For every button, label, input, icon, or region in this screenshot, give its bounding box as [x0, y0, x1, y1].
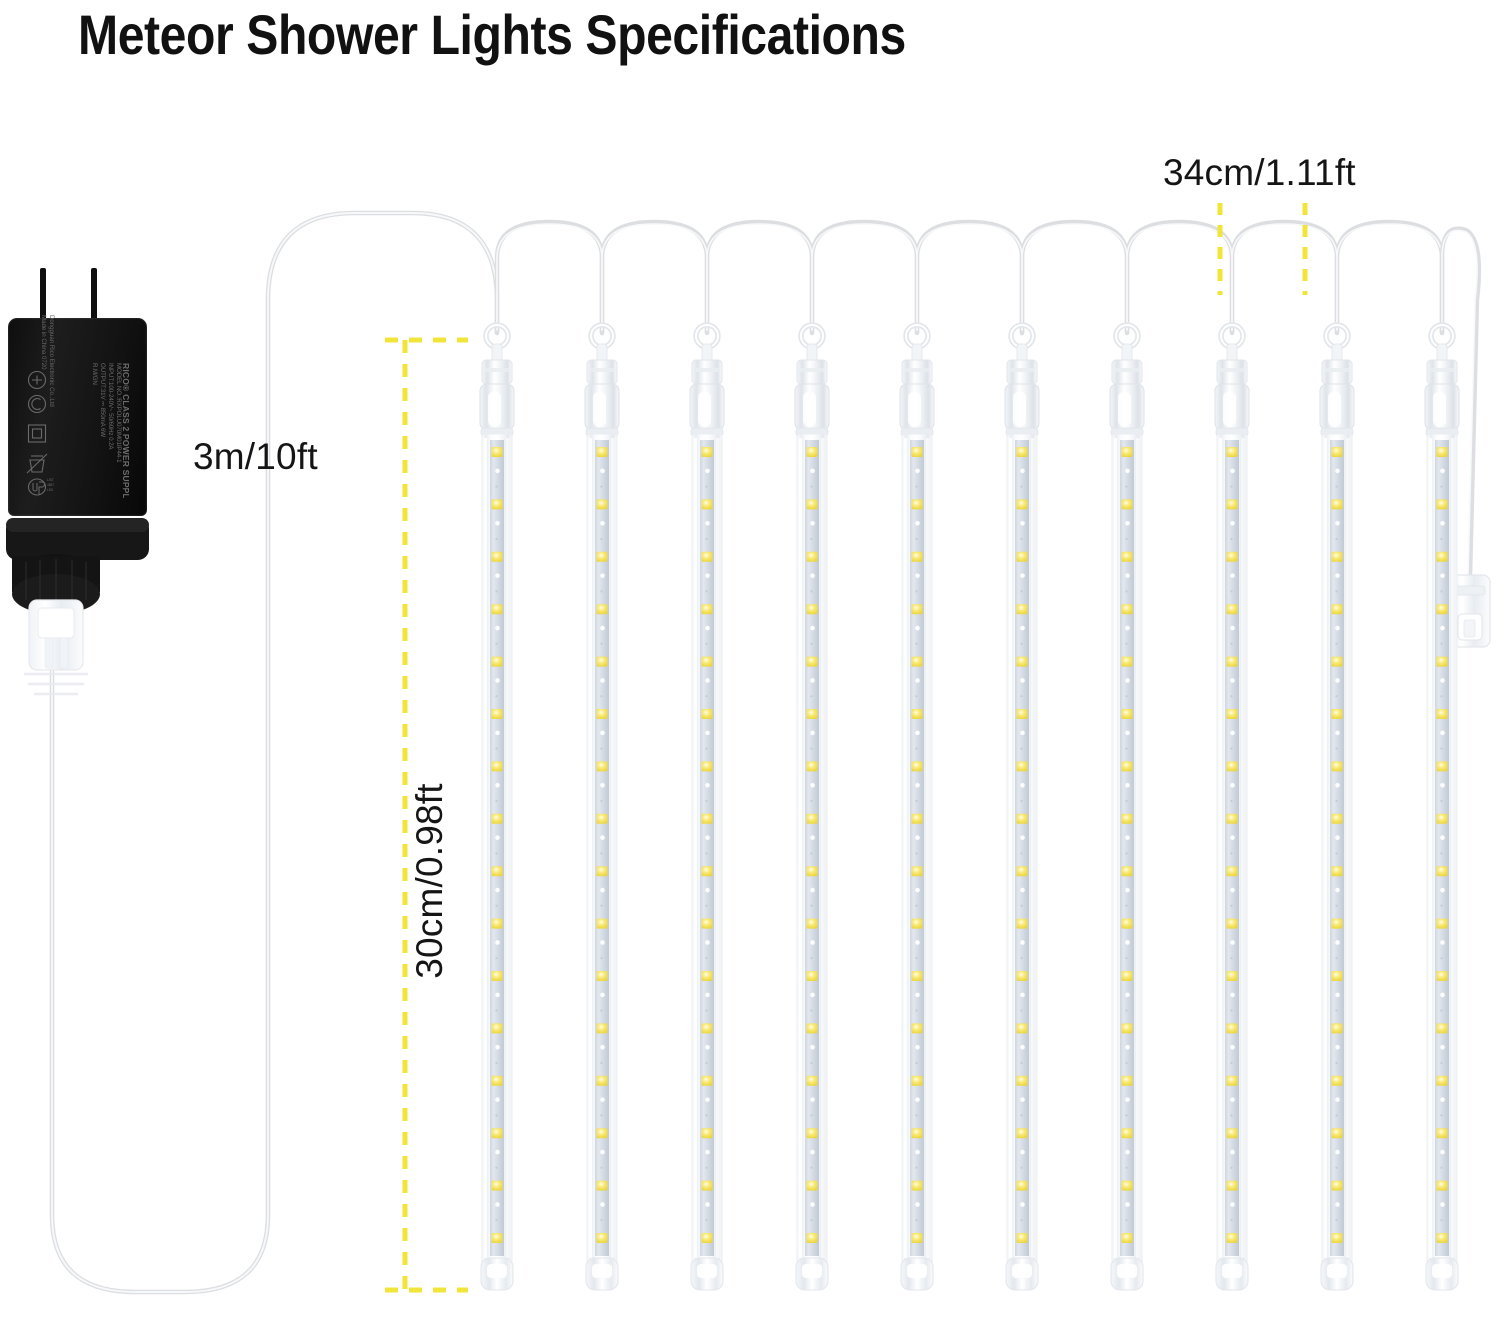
led-strip-dot	[495, 1202, 500, 1207]
led-strip-dot	[1125, 835, 1130, 840]
led-chip	[807, 657, 818, 667]
tube-foot-cap	[1111, 1258, 1143, 1290]
led-strip-resistor	[1230, 905, 1232, 907]
led-chip	[807, 814, 818, 824]
led-strip-dot	[1020, 1202, 1025, 1207]
led-strip-dot	[1125, 940, 1130, 945]
led-strip-dot	[600, 1202, 605, 1207]
led-strip-resistor	[1020, 1062, 1022, 1064]
led-strip-dot	[1335, 731, 1340, 736]
led-strip-resistor	[1020, 695, 1022, 697]
led-strip-dot	[810, 1045, 815, 1050]
led-strip-resistor	[1125, 1114, 1127, 1116]
led-chip	[597, 1233, 608, 1243]
tube-cap	[1110, 360, 1144, 436]
led-chip	[597, 552, 608, 562]
led-strip-resistor	[1230, 747, 1232, 749]
led-chip	[1017, 447, 1028, 457]
led-strip-dot	[1335, 678, 1340, 683]
led-strip-dot	[495, 573, 500, 578]
led-strip-resistor	[1230, 957, 1232, 959]
led-strip-resistor	[1125, 590, 1127, 592]
led-strip-dot	[1335, 626, 1340, 631]
led-chip	[1122, 919, 1133, 929]
led-strip-dot	[705, 835, 710, 840]
led-strip-resistor	[915, 1219, 917, 1221]
led-tube	[1425, 325, 1459, 1290]
led-chip	[807, 709, 818, 719]
led-strip-dot	[600, 1045, 605, 1050]
led-strip-dot	[1230, 1150, 1235, 1155]
led-strip-dot	[600, 993, 605, 998]
adapter-output-line: OUTPUT:31V ⎓ 850mA 6W	[98, 363, 106, 498]
led-strip-dot	[1335, 993, 1340, 998]
led-strip-resistor	[705, 1114, 707, 1116]
led-strip-resistor	[705, 1062, 707, 1064]
tube-cap	[900, 360, 934, 436]
led-strip-dot	[1230, 573, 1235, 578]
led-strip-resistor	[1020, 1009, 1022, 1011]
led-strip-resistor	[1335, 800, 1337, 802]
tube-cap	[480, 360, 514, 436]
led-chip	[492, 1076, 503, 1086]
led-chip	[1437, 1128, 1448, 1138]
led-strip-resistor	[495, 747, 497, 749]
led-strip-dot	[600, 783, 605, 788]
led-chip	[597, 761, 608, 771]
led-strip-dot	[810, 573, 815, 578]
led-chip	[702, 447, 713, 457]
led-tube	[795, 325, 829, 1290]
led-strip-resistor	[1335, 905, 1337, 907]
product-illustration	[0, 0, 1500, 1319]
led-strip-resistor	[1125, 747, 1127, 749]
led-strip-resistor	[1440, 590, 1442, 592]
led-strip-resistor	[810, 957, 812, 959]
led-strip-dot	[600, 1150, 605, 1155]
led-strip-resistor	[600, 1114, 602, 1116]
led-chip	[492, 971, 503, 981]
led-chip	[597, 604, 608, 614]
led-strip-dot	[810, 888, 815, 893]
led-strip-resistor	[1020, 905, 1022, 907]
led-strip-dot	[1020, 678, 1025, 683]
led-strip-resistor	[1125, 1062, 1127, 1064]
led-chip	[1017, 1076, 1028, 1086]
adapter-brand-line: RICO® CLASS 2 POWER SUPPLY	[122, 363, 130, 498]
led-chip	[1332, 447, 1343, 457]
tube-cap	[1320, 360, 1354, 436]
led-strip-dot	[1125, 1150, 1130, 1155]
led-chip	[1017, 709, 1028, 719]
led-chip	[492, 1181, 503, 1191]
led-chip	[492, 604, 503, 614]
led-strip-resistor	[1440, 800, 1442, 802]
led-chip	[1017, 1233, 1028, 1243]
led-chip	[912, 552, 923, 562]
led-chip	[1332, 866, 1343, 876]
led-strip-resistor	[1440, 1062, 1442, 1064]
led-chip	[912, 1023, 923, 1033]
led-strip-resistor	[810, 538, 812, 540]
led-strip-resistor	[495, 957, 497, 959]
led-strip-dot	[1230, 835, 1235, 840]
led-strip-dot	[705, 783, 710, 788]
led-strip-resistor	[1230, 695, 1232, 697]
led-chip	[807, 761, 818, 771]
adapter-input-line: INPUT:100-240V~ 50/60Hz 0.2A	[106, 363, 114, 498]
led-chip	[1332, 552, 1343, 562]
led-strip-dot	[495, 521, 500, 526]
led-chip	[912, 447, 923, 457]
led-chip	[1017, 814, 1028, 824]
led-chip	[1122, 1233, 1133, 1243]
led-strip-dot	[1440, 835, 1445, 840]
led-strip-dot	[915, 626, 920, 631]
led-strip-dot	[1020, 521, 1025, 526]
tube-foot-cap	[796, 1258, 828, 1290]
led-strip-dot	[1440, 783, 1445, 788]
led-strip-dot	[1230, 1097, 1235, 1102]
adapter-manufacturer-text: Dongguan Rico Electronic Co.,Ltd Made in…	[39, 315, 55, 465]
led-strip-resistor	[1125, 695, 1127, 697]
led-chip	[1122, 1076, 1133, 1086]
led-strip-resistor	[1335, 1219, 1337, 1221]
led-strip-dot	[810, 678, 815, 683]
led-strip-dot	[495, 678, 500, 683]
led-tube	[1320, 325, 1354, 1290]
led-strip-dot	[915, 835, 920, 840]
led-chip	[1017, 1128, 1028, 1138]
led-chip	[492, 499, 503, 509]
led-strip-dot	[495, 940, 500, 945]
led-chip	[1017, 604, 1028, 614]
led-chip	[912, 919, 923, 929]
adapter-rohs-line: R.M/GN	[90, 363, 98, 498]
led-strip-dot	[1020, 1097, 1025, 1102]
led-chip	[1017, 971, 1028, 981]
led-strip-dot	[1230, 1202, 1235, 1207]
led-strip-dot	[600, 835, 605, 840]
led-strip-resistor	[495, 852, 497, 854]
led-chip	[492, 709, 503, 719]
led-chip	[1227, 971, 1238, 981]
led-strip-dot	[495, 1150, 500, 1155]
led-chip	[1017, 866, 1028, 876]
led-chip	[1437, 1181, 1448, 1191]
led-strip-resistor	[705, 485, 707, 487]
led-strip-dot	[1125, 993, 1130, 998]
ul-listed-text-3: LED Driver	[47, 488, 54, 492]
led-chip	[912, 866, 923, 876]
led-strip-dot	[810, 731, 815, 736]
led-strip-dot	[1335, 888, 1340, 893]
led-strip-dot	[495, 731, 500, 736]
led-strip-dot	[1230, 1045, 1235, 1050]
led-chip	[1227, 814, 1238, 824]
led-strip-dot	[1335, 521, 1340, 526]
led-strip-dot	[705, 626, 710, 631]
led-strip-resistor	[705, 1167, 707, 1169]
led-strip-dot	[1440, 731, 1445, 736]
led-tube	[1110, 325, 1144, 1290]
led-strip-resistor	[1440, 852, 1442, 854]
led-strip-resistor	[1020, 538, 1022, 540]
led-strip-resistor	[1125, 905, 1127, 907]
led-strip-dot	[810, 469, 815, 474]
led-chip	[492, 447, 503, 457]
led-strip-resistor	[915, 905, 917, 907]
led-strip-resistor	[810, 747, 812, 749]
led-chip	[492, 657, 503, 667]
led-strip-dot	[705, 678, 710, 683]
led-chip	[1437, 604, 1448, 614]
dimension-lines	[385, 203, 1305, 1290]
led-strip-dot	[705, 469, 710, 474]
led-strip-resistor	[1125, 1009, 1127, 1011]
led-chip	[1017, 919, 1028, 929]
led-strip-resistor	[810, 695, 812, 697]
led-strip-dot	[1335, 783, 1340, 788]
tube-foot-cap	[1216, 1258, 1248, 1290]
led-chip	[912, 1181, 923, 1191]
led-strip-resistor	[1020, 590, 1022, 592]
led-chip	[807, 971, 818, 981]
tube-foot-cap	[481, 1258, 513, 1290]
led-chip	[912, 604, 923, 614]
led-chip	[1227, 1076, 1238, 1086]
led-chip	[1332, 1023, 1343, 1033]
ul-listed-text-1: LISTED	[47, 478, 54, 482]
led-chip	[702, 761, 713, 771]
adapter-male-connector	[24, 600, 88, 694]
led-strip-dot	[1335, 835, 1340, 840]
led-strip-dot	[1230, 940, 1235, 945]
led-chip	[1227, 1233, 1238, 1243]
led-strip-resistor	[1230, 800, 1232, 802]
led-strip-resistor	[600, 1009, 602, 1011]
led-strip-resistor	[1440, 485, 1442, 487]
led-strip-resistor	[495, 1009, 497, 1011]
led-strip-resistor	[1440, 1167, 1442, 1169]
led-strip-dot	[810, 993, 815, 998]
led-strip-dot	[495, 1097, 500, 1102]
led-chip	[702, 1233, 713, 1243]
led-strip-resistor	[1440, 643, 1442, 645]
led-chip	[1122, 657, 1133, 667]
led-strip-dot	[1020, 1150, 1025, 1155]
led-chip	[1227, 919, 1238, 929]
led-strip-resistor	[600, 538, 602, 540]
led-chip	[1122, 604, 1133, 614]
led-strip-resistor	[915, 957, 917, 959]
led-chip	[1122, 447, 1133, 457]
led-strip-dot	[810, 940, 815, 945]
dimension-label-tube-length: 30cm/0.98ft	[409, 781, 451, 981]
led-strip-resistor	[1020, 747, 1022, 749]
led-chip	[597, 971, 608, 981]
led-strip-dot	[495, 888, 500, 893]
led-chip	[1122, 761, 1133, 771]
led-strip-dot	[1230, 731, 1235, 736]
led-strip-dot	[915, 993, 920, 998]
led-chip	[702, 1181, 713, 1191]
led-strip-dot	[705, 731, 710, 736]
led-strip-dot	[705, 888, 710, 893]
led-strip-resistor	[810, 800, 812, 802]
led-tube	[900, 325, 934, 1290]
tube-foot-cap	[586, 1258, 618, 1290]
led-chip	[597, 1076, 608, 1086]
led-strip-resistor	[495, 1062, 497, 1064]
led-strip-dot	[495, 626, 500, 631]
led-strip-resistor	[1020, 1219, 1022, 1221]
led-strip-resistor	[600, 1219, 602, 1221]
led-strip-resistor	[915, 485, 917, 487]
led-strip-dot	[810, 626, 815, 631]
led-tube	[480, 325, 514, 1290]
dimension-label-tube-spacing: 34cm/1.11ft	[1163, 152, 1356, 194]
led-strip-dot	[810, 1097, 815, 1102]
led-strip-resistor	[915, 1062, 917, 1064]
led-chip	[702, 499, 713, 509]
led-strip-resistor	[600, 747, 602, 749]
led-chip	[492, 1233, 503, 1243]
led-strip-resistor	[600, 957, 602, 959]
led-strip-resistor	[600, 905, 602, 907]
led-strip-resistor	[705, 905, 707, 907]
led-strip-resistor	[600, 643, 602, 645]
led-chip	[807, 552, 818, 562]
led-strip-resistor	[1335, 852, 1337, 854]
led-strip-resistor	[1125, 485, 1127, 487]
led-chip	[807, 919, 818, 929]
led-strip-dot	[1440, 469, 1445, 474]
tube-cap	[1005, 360, 1039, 436]
led-chip	[1437, 971, 1448, 981]
led-tube-group	[480, 325, 1459, 1290]
led-chip	[1227, 499, 1238, 509]
led-strip-resistor	[495, 1167, 497, 1169]
led-chip	[1122, 1128, 1133, 1138]
led-strip-dot	[1440, 1097, 1445, 1102]
led-chip	[912, 761, 923, 771]
led-chip	[1227, 761, 1238, 771]
led-strip-dot	[1440, 993, 1445, 998]
led-strip-resistor	[600, 800, 602, 802]
led-strip-dot	[1020, 731, 1025, 736]
adapter-origin-line: Made in China 0720	[40, 315, 47, 370]
led-strip-resistor	[495, 485, 497, 487]
led-strip-dot	[1335, 1097, 1340, 1102]
led-strip-resistor	[1440, 1219, 1442, 1221]
led-strip-dot	[915, 573, 920, 578]
led-strip-dot	[915, 1150, 920, 1155]
led-chip	[1332, 919, 1343, 929]
tube-foot-cap	[1006, 1258, 1038, 1290]
led-chip	[1437, 919, 1448, 929]
led-strip-resistor	[600, 590, 602, 592]
led-strip-resistor	[495, 800, 497, 802]
led-chip	[702, 971, 713, 981]
led-strip-resistor	[1440, 1114, 1442, 1116]
tube-foot-cap	[901, 1258, 933, 1290]
led-strip-dot	[810, 783, 815, 788]
led-strip-resistor	[1230, 852, 1232, 854]
led-strip-resistor	[495, 538, 497, 540]
led-chip	[702, 604, 713, 614]
led-tube	[1215, 325, 1249, 1290]
led-strip-resistor	[1020, 643, 1022, 645]
led-strip-dot	[1020, 469, 1025, 474]
led-strip-dot	[1335, 573, 1340, 578]
led-strip-dot	[1125, 1202, 1130, 1207]
led-strip-resistor	[600, 1167, 602, 1169]
led-strip-resistor	[495, 590, 497, 592]
led-strip-resistor	[705, 643, 707, 645]
power-adapter: RICO® CLASS 2 POWER SUPPLY MODEL NO.:RXP…	[8, 318, 156, 536]
led-strip-dot	[1230, 626, 1235, 631]
led-chip	[492, 919, 503, 929]
led-strip-resistor	[810, 1114, 812, 1116]
led-strip-resistor	[915, 643, 917, 645]
led-strip-dot	[1440, 573, 1445, 578]
led-chip	[1437, 1076, 1448, 1086]
led-strip-resistor	[600, 485, 602, 487]
led-strip-resistor	[1335, 485, 1337, 487]
led-chip	[1332, 1076, 1343, 1086]
led-strip-dot	[495, 835, 500, 840]
led-strip-resistor	[600, 695, 602, 697]
led-strip-dot	[705, 1150, 710, 1155]
led-strip-resistor	[1020, 852, 1022, 854]
led-strip-dot	[705, 993, 710, 998]
led-strip-resistor	[495, 905, 497, 907]
led-chip	[702, 1023, 713, 1033]
led-strip-dot	[810, 1150, 815, 1155]
tube-cap	[1215, 360, 1249, 436]
led-strip-dot	[1125, 678, 1130, 683]
led-strip-resistor	[1335, 957, 1337, 959]
led-strip-dot	[1125, 731, 1130, 736]
led-chip	[702, 709, 713, 719]
led-strip-resistor	[1230, 1219, 1232, 1221]
ul-listed-text-2: 4687PJ	[47, 483, 54, 487]
led-chip	[1332, 1181, 1343, 1191]
led-strip-dot	[1440, 940, 1445, 945]
led-chip	[702, 919, 713, 929]
led-chip	[1437, 552, 1448, 562]
led-chip	[597, 1128, 608, 1138]
led-strip-resistor	[1335, 1009, 1337, 1011]
led-chip	[597, 1181, 608, 1191]
led-strip-resistor	[600, 1062, 602, 1064]
led-chip	[1017, 761, 1028, 771]
led-chip	[807, 604, 818, 614]
led-chip	[1437, 761, 1448, 771]
led-tube	[1005, 325, 1039, 1290]
led-strip-resistor	[1230, 590, 1232, 592]
led-strip-dot	[600, 940, 605, 945]
led-strip-dot	[1125, 469, 1130, 474]
led-strip-resistor	[705, 1219, 707, 1221]
led-strip-dot	[1125, 1045, 1130, 1050]
led-chip	[702, 1128, 713, 1138]
led-chip	[807, 1233, 818, 1243]
led-strip-dot	[705, 521, 710, 526]
led-chip	[807, 1023, 818, 1033]
led-strip-resistor	[1335, 1167, 1337, 1169]
